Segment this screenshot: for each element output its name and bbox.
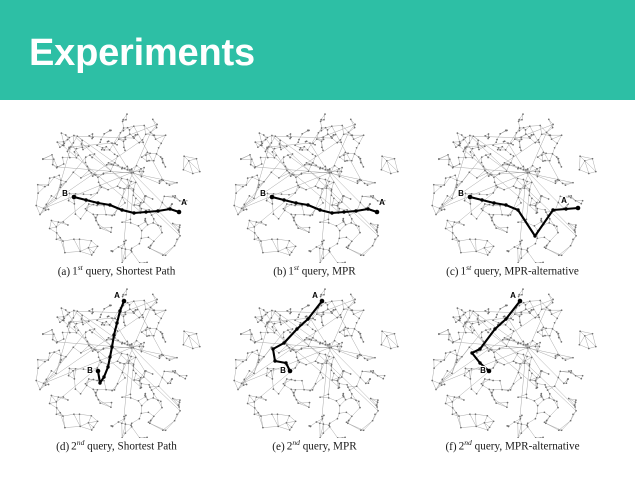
svg-text:B: B <box>260 189 266 198</box>
figure-method-a: Shortest Path <box>116 266 175 278</box>
slide-header-band: Experiments <box>0 0 635 100</box>
figure-panel-a: BA (a)1st query, Shortest Path <box>14 108 219 294</box>
figure-ordinal-suffix-d: nd <box>77 438 85 447</box>
figure-panel-b: BA (b)1st query, MPR <box>212 108 417 294</box>
figure-method-f: MPR-alternative <box>505 441 580 453</box>
figure-row-bottom: BA (d)2nd query, Shortest Path BA (e)2nd… <box>0 283 635 469</box>
svg-text:A: A <box>312 291 318 300</box>
figure-panel-f: BA (f)2nd query, MPR-alternative <box>410 283 615 469</box>
figure-grid: BA (a)1st query, Shortest Path BA (b)1st… <box>0 104 635 483</box>
figure-label-e: (e) <box>272 441 284 453</box>
svg-text:B: B <box>458 189 464 198</box>
figure-caption-c: (c)1st query, MPR-alternative <box>410 263 615 278</box>
figure-row-top: BA (a)1st query, Shortest Path BA (b)1st… <box>0 108 635 294</box>
figure-label-a: (a) <box>58 266 70 278</box>
svg-text:A: A <box>181 198 187 207</box>
slide: Experiments BA (a)1st query, Shortest Pa… <box>0 0 635 483</box>
figure-panel-c: BA (c)1st query, MPR-alternative <box>410 108 615 294</box>
svg-text:A: A <box>561 196 567 205</box>
figure-method-d: Shortest Path <box>118 441 177 453</box>
figure-ordinal-suffix-c: st <box>466 263 471 272</box>
figure-caption-a: (a)1st query, Shortest Path <box>14 263 219 278</box>
figure-method-c: MPR-alternative <box>504 266 579 278</box>
figure-query-word-c: query, <box>474 266 502 278</box>
figure-ordinal-suffix-a: st <box>78 263 83 272</box>
network-graph-a: BA <box>14 108 219 263</box>
figure-query-word-d: query, <box>87 441 115 453</box>
figure-ordinal-suffix-e: nd <box>292 438 300 447</box>
network-graph-d: BA <box>14 283 219 438</box>
network-graph-f: BA <box>410 283 615 438</box>
figure-panel-d: BA (d)2nd query, Shortest Path <box>14 283 219 469</box>
figure-query-word-b: query, <box>302 266 330 278</box>
figure-method-b: MPR <box>332 266 356 278</box>
svg-text:A: A <box>379 198 385 207</box>
figure-caption-f: (f)2nd query, MPR-alternative <box>410 438 615 453</box>
svg-text:B: B <box>280 366 286 375</box>
figure-ordinal-suffix-f: nd <box>464 438 472 447</box>
figure-caption-e: (e)2nd query, MPR <box>212 438 417 453</box>
svg-text:B: B <box>87 366 93 375</box>
figure-caption-d: (d)2nd query, Shortest Path <box>14 438 219 453</box>
figure-query-word-e: query, <box>303 441 331 453</box>
figure-label-b: (b) <box>273 266 286 278</box>
network-graph-e: BA <box>212 283 417 438</box>
figure-query-word-f: query, <box>475 441 503 453</box>
figure-caption-b: (b)1st query, MPR <box>212 263 417 278</box>
page-title: Experiments <box>29 30 255 76</box>
figure-label-f: (f) <box>445 441 456 453</box>
figure-label-c: (c) <box>446 266 458 278</box>
figure-ordinal-suffix-b: st <box>294 263 299 272</box>
network-graph-c: BA <box>410 108 615 263</box>
figure-query-word-a: query, <box>86 266 114 278</box>
svg-text:B: B <box>62 189 68 198</box>
figure-method-e: MPR <box>333 441 357 453</box>
figure-label-d: (d) <box>56 441 69 453</box>
figure-panel-e: BA (e)2nd query, MPR <box>212 283 417 469</box>
network-graph-b: BA <box>212 108 417 263</box>
svg-text:A: A <box>114 291 120 300</box>
